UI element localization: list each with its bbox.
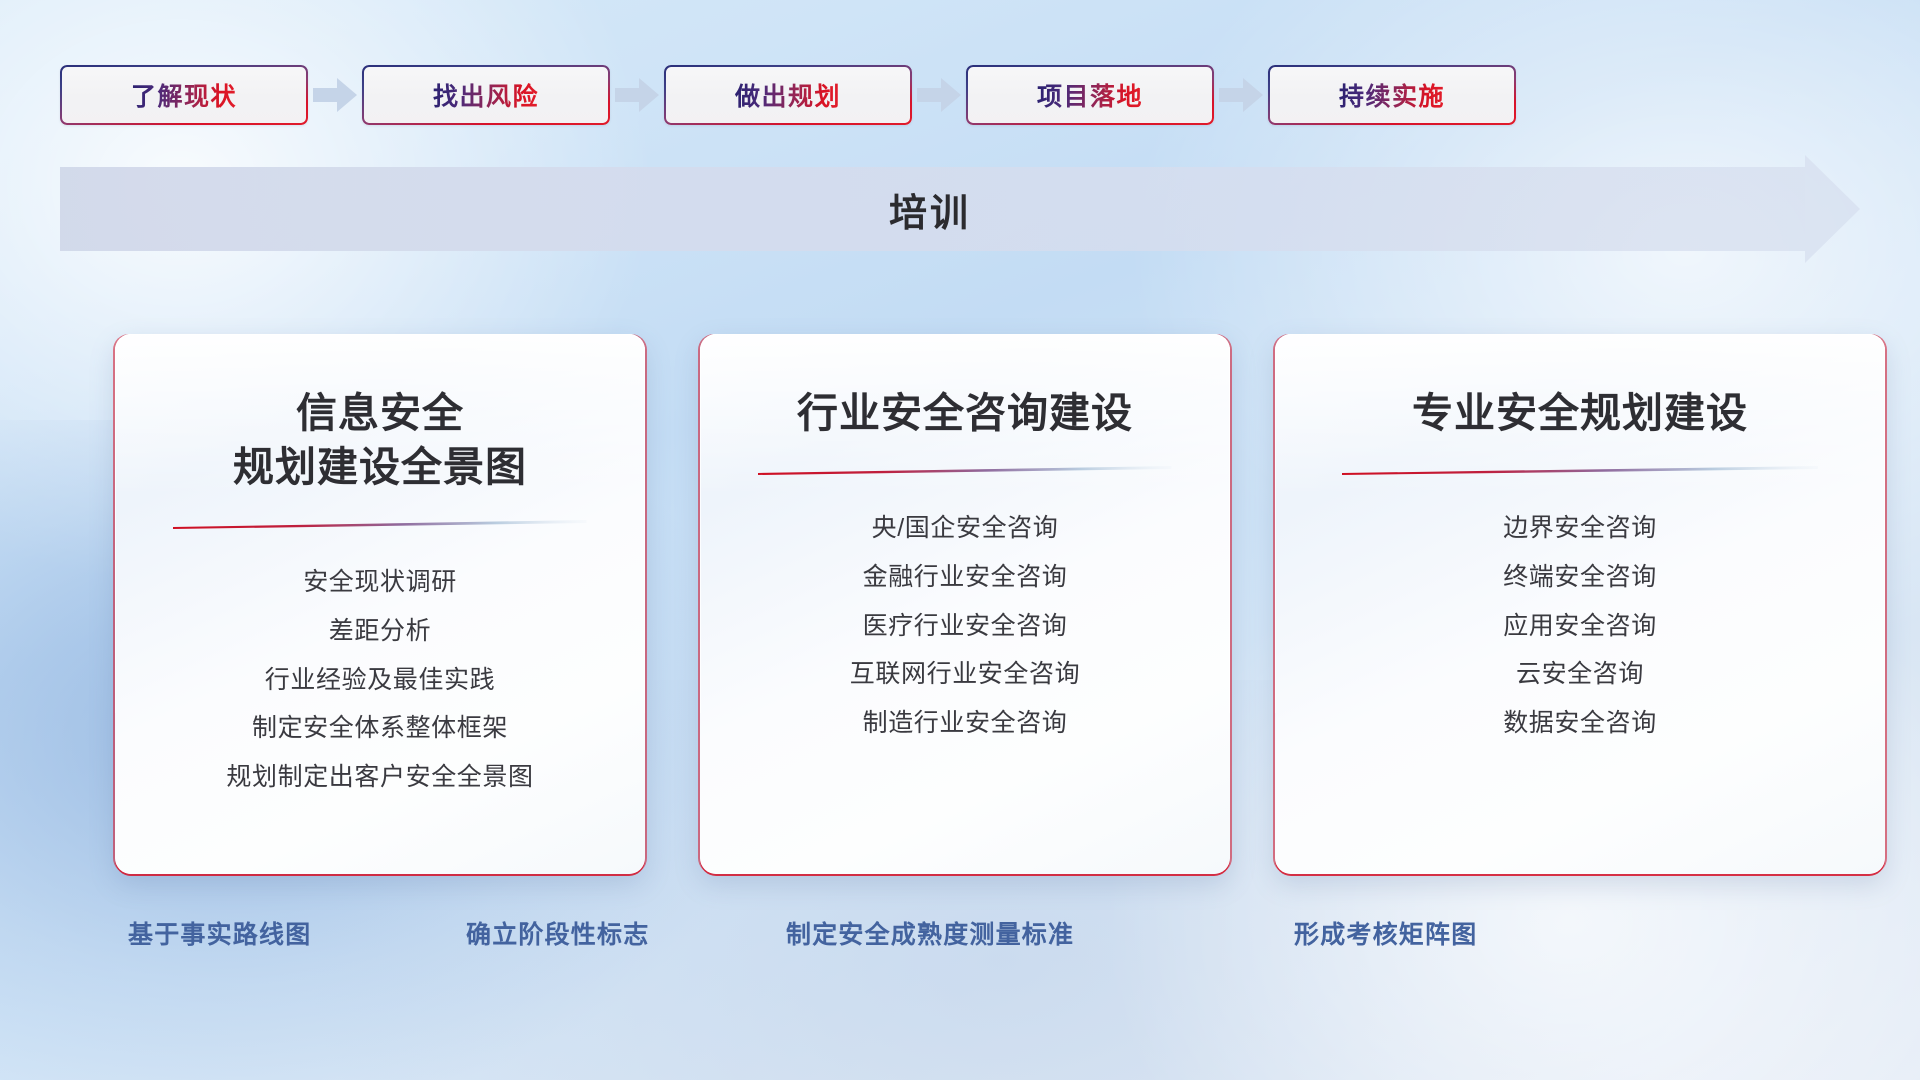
step-label-4: 持续实施: [1339, 77, 1445, 113]
arrow-right-icon: [1214, 65, 1268, 125]
card-title-1: 行业安全咨询建设: [773, 386, 1157, 440]
card-information-security-panorama[interactable]: 信息安全 规划建设全景图 安全现状调研 差距分析 行业经验及最佳实践 制定安全体…: [115, 334, 645, 874]
list-item: 应用安全咨询: [1503, 607, 1657, 646]
training-banner: 培训: [60, 167, 1860, 251]
caption-row: 基于事实路线图 确立阶段性标志 制定安全成熟度测量标准 形成考核矩阵图: [0, 915, 1920, 975]
card-title-line: 专业安全规划建设: [1412, 386, 1748, 440]
list-item: 金融行业安全咨询: [863, 558, 1068, 597]
arrow-right-icon: [912, 65, 966, 125]
step-label-1: 找出风险: [433, 77, 539, 113]
list-item: 边界安全咨询: [1503, 509, 1657, 548]
card-group: 信息安全 规划建设全景图 安全现状调研 差距分析 行业经验及最佳实践 制定安全体…: [0, 334, 1920, 884]
step-box-2[interactable]: 做出规划: [664, 65, 912, 125]
list-item: 安全现状调研: [303, 563, 457, 602]
list-item: 制定安全体系整体框架: [252, 709, 508, 748]
caption-1: 确立阶段性标志: [466, 915, 649, 951]
arrow-right-icon: [610, 65, 664, 125]
slide-stage: 了解现状 找出风险 做出规划 项目落地: [0, 0, 1920, 1080]
list-item: 互联网行业安全咨询: [850, 655, 1080, 694]
step-wrap-0: 了解现状: [60, 65, 362, 125]
list-item: 医疗行业安全咨询: [863, 607, 1068, 646]
card-divider-1: [758, 466, 1171, 475]
list-item: 行业经验及最佳实践: [265, 661, 495, 700]
card-title-line: 规划建设全景图: [233, 440, 527, 494]
step-wrap-2: 做出规划: [664, 65, 966, 125]
card-title-line: 信息安全: [233, 386, 527, 440]
step-wrap-1: 找出风险: [362, 65, 664, 125]
caption-3: 形成考核矩阵图: [1294, 915, 1477, 951]
step-box-4[interactable]: 持续实施: [1268, 65, 1516, 125]
card-title-line: 行业安全咨询建设: [797, 386, 1133, 440]
step-box-0[interactable]: 了解现状: [60, 65, 308, 125]
card-divider-0: [173, 520, 586, 529]
card-list-0: 安全现状调研 差距分析 行业经验及最佳实践 制定安全体系整体框架 规划制定出客户…: [115, 563, 645, 797]
process-step-flow: 了解现状 找出风险 做出规划 项目落地: [60, 64, 1860, 126]
arrow-right-icon: [308, 65, 362, 125]
caption-0: 基于事实路线图: [128, 915, 311, 951]
list-item: 制造行业安全咨询: [863, 704, 1068, 743]
card-list-2: 边界安全咨询 终端安全咨询 应用安全咨询 云安全咨询 数据安全咨询: [1275, 509, 1885, 743]
card-industry-security-consulting[interactable]: 行业安全咨询建设 央/国企安全咨询 金融行业安全咨询 医疗行业安全咨询 互联网行…: [700, 334, 1230, 874]
step-box-1[interactable]: 找出风险: [362, 65, 610, 125]
list-item: 央/国企安全咨询: [872, 509, 1059, 548]
card-title-0: 信息安全 规划建设全景图: [209, 386, 551, 494]
list-item: 云安全咨询: [1516, 655, 1644, 694]
card-title-2: 专业安全规划建设: [1388, 386, 1772, 440]
training-banner-label: 培训: [60, 167, 1860, 251]
step-box-3[interactable]: 项目落地: [966, 65, 1214, 125]
list-item: 终端安全咨询: [1503, 558, 1657, 597]
list-item: 规划制定出客户安全全景图: [226, 758, 533, 797]
card-professional-security-planning[interactable]: 专业安全规划建设 边界安全咨询 终端安全咨询 应用安全咨询 云安全咨询 数据安全…: [1275, 334, 1885, 874]
caption-2: 制定安全成熟度测量标准: [786, 915, 1074, 951]
card-divider-2: [1342, 466, 1818, 475]
list-item: 数据安全咨询: [1503, 704, 1657, 743]
step-label-3: 项目落地: [1037, 77, 1143, 113]
step-label-0: 了解现状: [131, 77, 237, 113]
list-item: 差距分析: [329, 612, 431, 651]
card-list-1: 央/国企安全咨询 金融行业安全咨询 医疗行业安全咨询 互联网行业安全咨询 制造行…: [700, 509, 1230, 743]
step-wrap-3: 项目落地: [966, 65, 1268, 125]
step-label-2: 做出规划: [735, 77, 841, 113]
step-wrap-4: 持续实施: [1268, 65, 1516, 125]
